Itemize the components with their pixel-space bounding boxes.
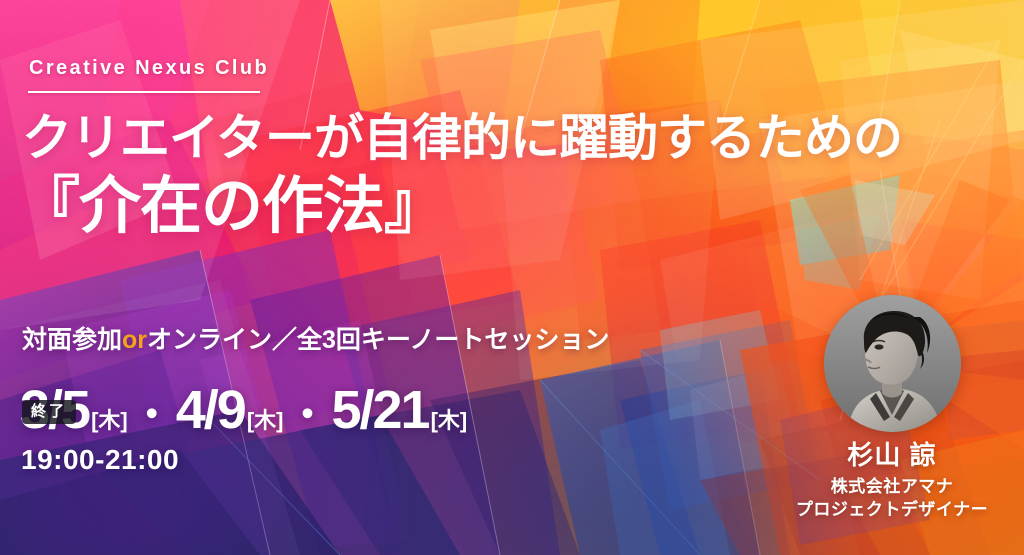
subtitle-post: オンライン／全3回キーノートセッション xyxy=(147,326,609,354)
date-day-of-week: [木] xyxy=(91,410,128,432)
speaker-block: 杉山 諒 株式会社アマナ プロジェクトデザイナー xyxy=(760,290,1024,520)
speaker-role: プロジェクトデザイナー xyxy=(760,499,1024,520)
subtitle-pre: 対面参加 xyxy=(22,326,122,354)
event-banner: Creative Nexus Club クリエイターが自律的に躍動するための 『… xyxy=(0,0,1024,555)
date-value: 5/21 xyxy=(331,383,428,437)
banner-content: Creative Nexus Club クリエイターが自律的に躍動するための 『… xyxy=(0,0,1024,555)
club-name-kicker: Creative Nexus Club xyxy=(29,57,269,80)
avatar xyxy=(824,295,961,432)
session-dates: 3/5[木]・4/9[木]・5/21[木] xyxy=(20,383,467,437)
date-value: 4/9 xyxy=(176,383,245,437)
date-day-of-week: [木] xyxy=(247,410,284,432)
date-separator: ・ xyxy=(132,395,172,435)
speaker-name: 杉山 諒 xyxy=(760,441,1024,470)
ended-badge: 終了 xyxy=(22,400,76,424)
kicker-underline xyxy=(28,91,260,93)
date-day-of-week: [木] xyxy=(431,410,468,432)
title-line-1: クリエイターが自律的に躍動するための xyxy=(22,113,902,163)
speaker-portrait-illustration xyxy=(824,295,961,432)
title-line-2: 『介在の作法』 xyxy=(18,176,445,238)
subtitle-highlight: or xyxy=(122,326,147,354)
subtitle: 対面参加orオンライン／全3回キーノートセッション xyxy=(22,328,609,353)
date-separator: ・ xyxy=(287,395,327,435)
session-time: 19:00-21:00 xyxy=(21,446,179,474)
speaker-company: 株式会社アマナ xyxy=(760,476,1024,497)
